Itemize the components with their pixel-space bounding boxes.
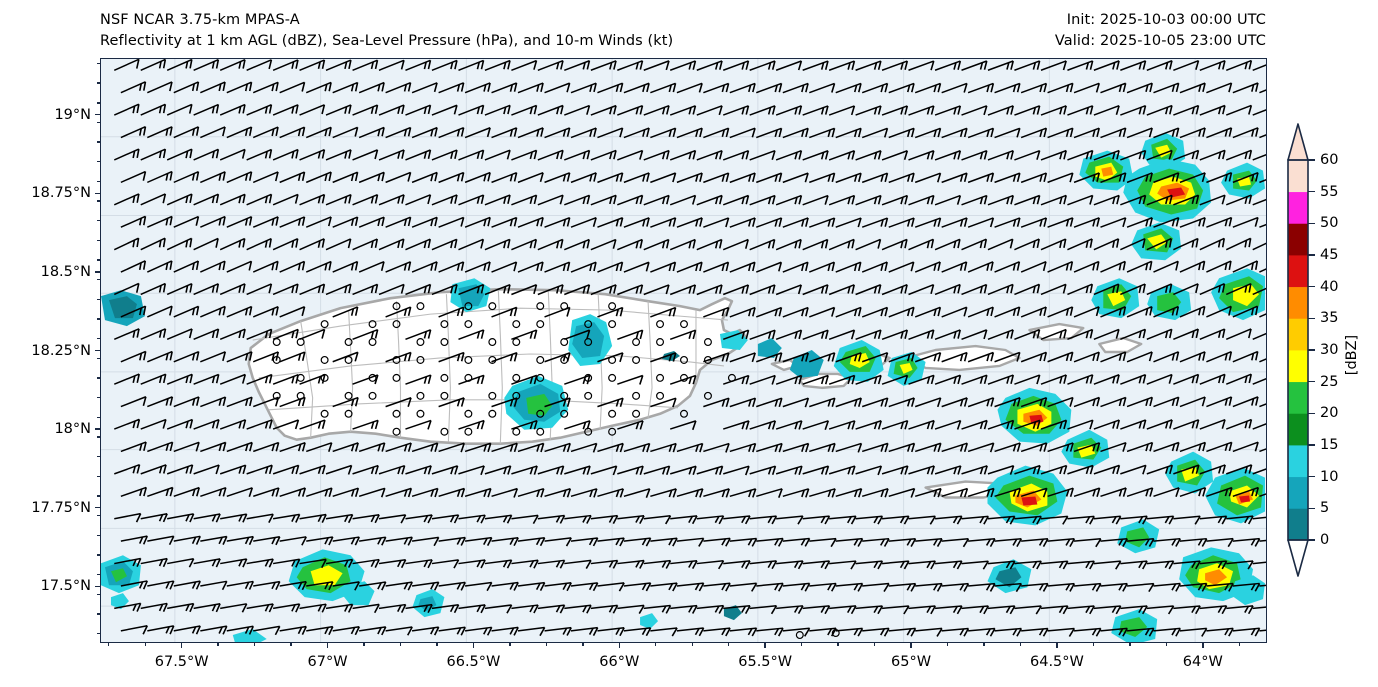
- colorbar-band: [1288, 413, 1308, 445]
- x-axis-label: 64.5°W: [1030, 654, 1084, 670]
- x-axis-minor-tick: [1020, 643, 1021, 646]
- x-axis-minor-tick: [509, 643, 510, 646]
- colorbar-tick: [1308, 159, 1315, 161]
- init-time: Init: 2025-10-03 00:00 UTC: [1067, 12, 1266, 28]
- colorbar-gradient: [1286, 120, 1310, 580]
- colorbar-band: [1288, 350, 1308, 382]
- colorbar-band: [1288, 192, 1308, 224]
- model-title: NSF NCAR 3.75-km MPAS-A: [100, 12, 300, 28]
- y-axis-minor-tick: [97, 515, 100, 516]
- colorbar-band: [1288, 287, 1308, 319]
- x-axis-minor-tick: [1166, 643, 1167, 646]
- colorbar-band: [1288, 477, 1308, 509]
- colorbar-tick-label: 55: [1320, 184, 1338, 200]
- y-axis-minor-tick: [97, 102, 100, 103]
- y-axis-minor-tick: [97, 436, 100, 437]
- y-axis-tick: [95, 271, 100, 272]
- colorbar-tick-label: 30: [1320, 342, 1338, 358]
- x-axis-minor-tick: [1202, 643, 1203, 646]
- x-axis-minor-tick: [254, 643, 255, 646]
- y-axis-label: 18.75°N: [31, 185, 91, 201]
- y-axis-minor-tick: [97, 279, 100, 280]
- colorbar-tick: [1308, 508, 1315, 510]
- y-axis-label: 18.5°N: [41, 264, 91, 280]
- x-axis-minor-tick: [874, 643, 875, 646]
- y-axis-minor-tick: [97, 200, 100, 201]
- y-axis-minor-tick: [97, 476, 100, 477]
- y-axis-minor-tick: [97, 299, 100, 300]
- colorbar-tick: [1308, 476, 1315, 478]
- x-axis-minor-tick: [655, 643, 656, 646]
- y-axis-minor-tick: [97, 122, 100, 123]
- colorbar-tick-label: 5: [1320, 500, 1329, 516]
- y-axis-label: 17.75°N: [31, 500, 91, 516]
- x-axis-minor-tick: [217, 643, 218, 646]
- colorbar-tick: [1308, 349, 1315, 351]
- y-axis-minor-tick: [97, 554, 100, 555]
- colorbar-tick-label: 10: [1320, 469, 1338, 485]
- colorbar-tick-label: 20: [1320, 405, 1338, 421]
- colorbar-band: [1288, 445, 1308, 477]
- x-axis-minor-tick: [1239, 643, 1240, 646]
- y-axis-minor-tick: [97, 574, 100, 575]
- colorbar-tick-label: 60: [1320, 152, 1338, 168]
- x-axis-minor-tick: [400, 643, 401, 646]
- y-axis-minor-tick: [97, 141, 100, 142]
- y-axis-label: 18°N: [54, 421, 91, 437]
- x-axis-minor-tick: [1056, 643, 1057, 646]
- y-axis-minor-tick: [97, 417, 100, 418]
- x-axis-label: 67°W: [308, 654, 348, 670]
- x-axis-minor-tick: [582, 643, 583, 646]
- x-axis-minor-tick: [1129, 643, 1130, 646]
- y-axis-minor-tick: [97, 63, 100, 64]
- x-axis-minor-tick: [764, 643, 765, 646]
- weather-map-figure: NSF NCAR 3.75-km MPAS-A Reflectivity at …: [0, 0, 1378, 687]
- y-axis-label: 19°N: [54, 107, 91, 123]
- colorbar-tick: [1308, 413, 1315, 415]
- y-axis-minor-tick: [97, 535, 100, 536]
- y-axis-minor-tick: [97, 633, 100, 634]
- y-axis-minor-tick: [97, 161, 100, 162]
- colorbar-tick-label: 45: [1320, 247, 1338, 263]
- colorbar-band: [1288, 223, 1308, 255]
- x-axis-minor-tick: [801, 643, 802, 646]
- y-axis-minor-tick: [97, 397, 100, 398]
- x-axis-minor-tick: [910, 643, 911, 646]
- x-axis-label: 67.5°W: [155, 654, 209, 670]
- colorbar-tick: [1308, 191, 1315, 193]
- colorbar-tick: [1308, 539, 1315, 541]
- colorbar-band: [1288, 382, 1308, 414]
- colorbar-tick-label: 50: [1320, 215, 1338, 231]
- colorbar-tick-label: 40: [1320, 279, 1338, 295]
- y-axis-minor-tick: [97, 259, 100, 260]
- x-axis-minor-tick: [145, 643, 146, 646]
- y-axis-minor-tick: [97, 594, 100, 595]
- y-axis-label: 17.5°N: [41, 578, 91, 594]
- x-axis-label: 64°W: [1183, 654, 1223, 670]
- x-axis-minor-tick: [619, 643, 620, 646]
- colorbar-tick-label: 35: [1320, 310, 1338, 326]
- y-axis-minor-tick: [97, 220, 100, 221]
- x-axis-label: 65°W: [891, 654, 931, 670]
- x-axis-label: 66°W: [599, 654, 639, 670]
- x-axis-minor-tick: [1093, 643, 1094, 646]
- colorbar-tick: [1308, 381, 1315, 383]
- colorbar-unit-label: [dBZ]: [1344, 335, 1360, 375]
- colorbar-tick-label: 0: [1320, 532, 1329, 548]
- x-axis-minor-tick: [728, 643, 729, 646]
- colorbar-tick: [1308, 254, 1315, 256]
- colorbar: 051015202530354045505560: [1288, 120, 1308, 580]
- x-axis-minor-tick: [290, 643, 291, 646]
- colorbar-band: [1288, 508, 1308, 540]
- x-axis-minor-tick: [108, 643, 109, 646]
- y-axis-tick: [95, 507, 100, 508]
- colorbar-tick: [1308, 318, 1315, 320]
- colorbar-tick: [1308, 223, 1315, 225]
- colorbar-band: [1288, 160, 1308, 192]
- x-axis-minor-tick: [181, 643, 182, 646]
- x-axis-minor-tick: [837, 643, 838, 646]
- y-axis-minor-tick: [97, 181, 100, 182]
- valid-time: Valid: 2025-10-05 23:00 UTC: [1055, 33, 1266, 49]
- y-axis-minor-tick: [97, 318, 100, 319]
- colorbar-tick: [1308, 286, 1315, 288]
- y-axis-tick: [95, 193, 100, 194]
- colorbar-tick-label: 15: [1320, 437, 1338, 453]
- y-axis-minor-tick: [97, 613, 100, 614]
- y-axis-minor-tick: [97, 495, 100, 496]
- y-axis-minor-tick: [97, 456, 100, 457]
- x-axis-minor-tick: [436, 643, 437, 646]
- x-axis-minor-tick: [947, 643, 948, 646]
- y-axis-minor-tick: [97, 338, 100, 339]
- y-axis-minor-tick: [97, 240, 100, 241]
- y-axis-minor-tick: [97, 82, 100, 83]
- x-axis-label: 66.5°W: [447, 654, 501, 670]
- x-axis-minor-tick: [692, 643, 693, 646]
- y-axis-tick: [95, 586, 100, 587]
- y-axis-minor-tick: [97, 377, 100, 378]
- colorbar-tick-label: 25: [1320, 374, 1338, 390]
- fields-subtitle: Reflectivity at 1 km AGL (dBZ), Sea-Leve…: [100, 33, 673, 49]
- map-plot-area: [100, 58, 1267, 643]
- map-canvas: [101, 59, 1266, 642]
- y-axis-tick: [95, 350, 100, 351]
- y-axis-tick: [95, 428, 100, 429]
- colorbar-band: [1288, 318, 1308, 350]
- x-axis-minor-tick: [473, 643, 474, 646]
- y-axis-label: 18.25°N: [31, 343, 91, 359]
- x-axis-label: 65.5°W: [738, 654, 792, 670]
- x-axis-minor-tick: [546, 643, 547, 646]
- x-axis-minor-tick: [327, 643, 328, 646]
- x-axis-minor-tick: [363, 643, 364, 646]
- x-axis-minor-tick: [983, 643, 984, 646]
- y-axis-minor-tick: [97, 358, 100, 359]
- colorbar-tick: [1308, 444, 1315, 446]
- colorbar-band: [1288, 255, 1308, 287]
- y-axis-tick: [95, 114, 100, 115]
